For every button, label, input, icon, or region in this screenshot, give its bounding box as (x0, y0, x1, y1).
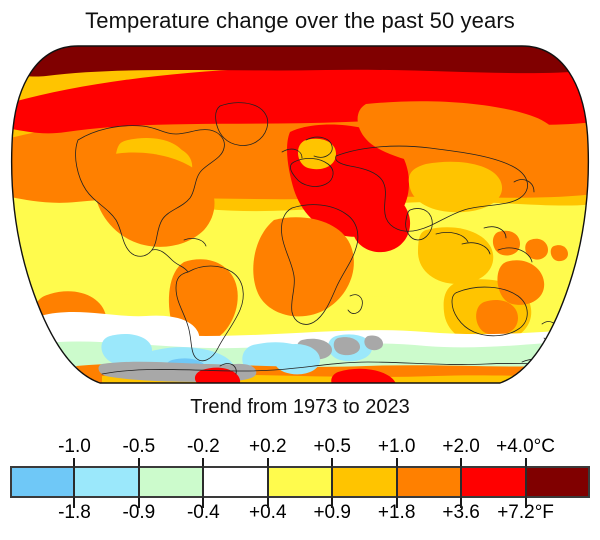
colorbar-band-7 (461, 466, 525, 498)
field-atlantic-amber-patch (298, 139, 336, 169)
colorbar-boundary-8 (525, 466, 527, 498)
colorbar-boundary-3 (202, 466, 204, 498)
colorbar-strip (10, 466, 590, 498)
colorbar-band-0 (10, 466, 74, 498)
colorbar-celsius-label-8: +4.0°C (496, 436, 555, 458)
colorbar-celsius-label-3: -0.2 (187, 436, 220, 458)
colorbar-band-3 (203, 466, 267, 498)
colorbar: -1.0-0.5-0.2+0.2+0.5+1.0+2.0+4.0°C -1.8-… (10, 436, 590, 532)
colorbar-celsius-labels: -1.0-0.5-0.2+0.2+0.5+1.0+2.0+4.0°C (10, 436, 590, 462)
colorbar-boundary-6 (396, 466, 398, 498)
colorbar-boundary-4 (267, 466, 269, 498)
colorbar-celsius-label-4: +0.2 (249, 436, 287, 458)
colorbar-band-6 (397, 466, 461, 498)
colorbar-celsius-label-2: -0.5 (123, 436, 156, 458)
field-australia-interior-orange (476, 300, 518, 335)
colorbar-boundary-5 (331, 466, 333, 498)
colorbar-fahrenheit-labels: -1.8-0.9-0.4+0.4+0.9+1.8+3.6+7.2°F (10, 502, 590, 528)
map-canvas (6, 44, 594, 386)
colorbar-celsius-label-6: +1.0 (378, 436, 416, 458)
colorbar-tick-bottom-3 (202, 498, 204, 508)
colorbar-band-1 (74, 466, 138, 498)
colorbar-band-2 (139, 466, 203, 498)
colorbar-celsius-label-5: +0.5 (313, 436, 351, 458)
colorbar-tick-bottom-4 (267, 498, 269, 508)
colorbar-boundary-2 (138, 466, 140, 498)
world-temperature-map (6, 44, 594, 386)
colorbar-tick-bottom-6 (396, 498, 398, 508)
colorbar-band-4 (268, 466, 332, 498)
page-title: Temperature change over the past 50 year… (0, 8, 600, 34)
colorbar-tick-bottom-2 (138, 498, 140, 508)
colorbar-tick-bottom-5 (331, 498, 333, 508)
chart-subtitle: Trend from 1973 to 2023 (0, 396, 600, 419)
colorbar-boundary-1 (73, 466, 75, 498)
colorbar-celsius-label-1: -1.0 (58, 436, 91, 458)
colorbar-tick-bottom-8 (525, 498, 527, 508)
colorbar-celsius-label-7: +2.0 (442, 436, 480, 458)
colorbar-tick-bottom-7 (460, 498, 462, 508)
colorbar-tick-bottom-1 (73, 498, 75, 508)
colorbar-band-5 (332, 466, 396, 498)
colorbar-boundary-7 (460, 466, 462, 498)
colorbar-band-8 (526, 466, 590, 498)
